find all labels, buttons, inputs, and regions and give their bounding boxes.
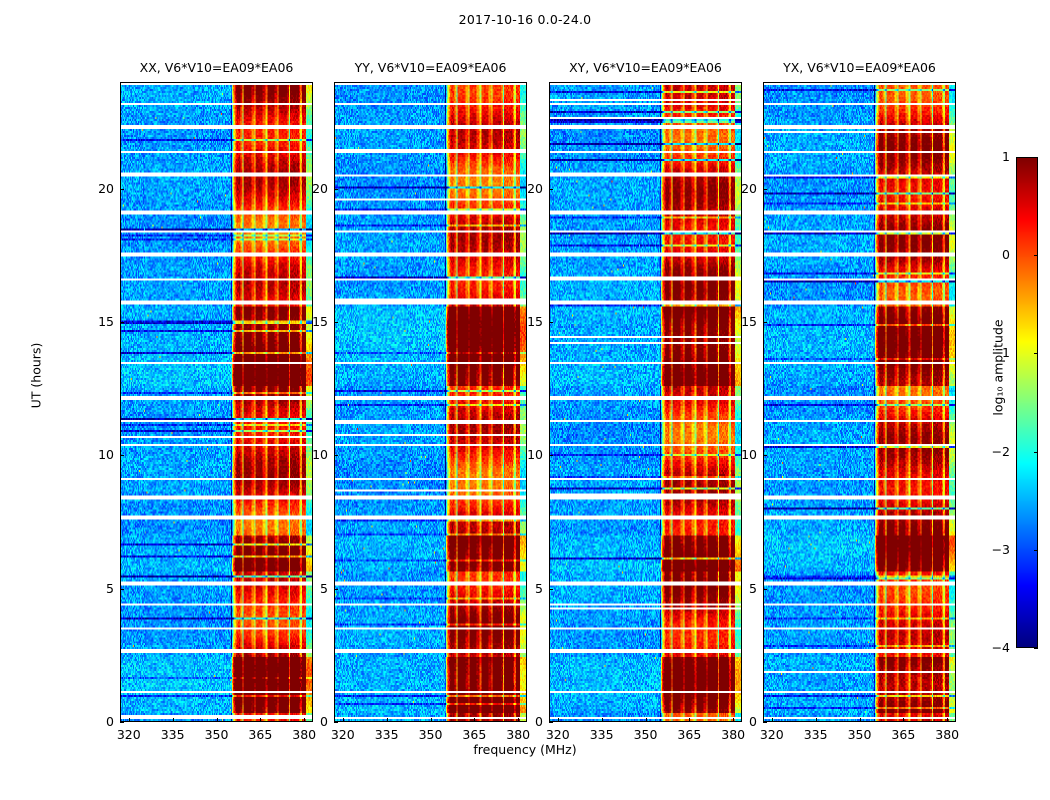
x-tick-1-3 [474, 718, 475, 722]
y-tick-1-3 [334, 322, 338, 323]
x-tick-0-3 [260, 718, 261, 722]
x-tick-label-1-4: 380 [498, 727, 538, 742]
y-tick-label-1-3: 15 [294, 314, 328, 329]
x-tick-3-1 [816, 718, 817, 722]
y-tick-3-4 [763, 189, 767, 190]
panel-title-yx: YX, V6*V10=EA09*EA06 [763, 60, 956, 75]
y-tick-label-3-1: 5 [723, 581, 757, 596]
y-tick-label-0-2: 10 [80, 447, 114, 462]
y-tick-2-4 [549, 189, 553, 190]
x-tick-3-3 [903, 718, 904, 722]
y-tick-3-1 [763, 589, 767, 590]
colorbar-tick-0 [1034, 157, 1038, 158]
colorbar-tick-2 [1034, 353, 1038, 354]
y-tick-3-2 [763, 455, 767, 456]
panel-title-xy: XY, V6*V10=EA09*EA06 [549, 60, 742, 75]
y-tick-3-0 [763, 722, 767, 723]
x-tick-1-1 [387, 718, 388, 722]
y-tick-0-2 [120, 455, 124, 456]
x-tick-label-2-4: 380 [713, 727, 753, 742]
colorbar-tick-label-3: −2 [978, 444, 1010, 459]
spectrum-panel-xx[interactable] [120, 82, 313, 722]
y-tick-0-1 [120, 589, 124, 590]
x-tick-label-2-1: 335 [582, 727, 622, 742]
x-tick-label-3-4: 380 [927, 727, 967, 742]
x-tick-1-0 [343, 718, 344, 722]
x-tick-label-0-0: 320 [109, 727, 149, 742]
y-tick-label-2-1: 5 [509, 581, 543, 596]
y-tick-label-2-4: 20 [509, 181, 543, 196]
x-tick-label-0-4: 380 [284, 727, 324, 742]
colorbar-tick-4 [1034, 550, 1038, 551]
y-tick-2-1 [549, 589, 553, 590]
x-tick-label-3-1: 335 [796, 727, 836, 742]
colorbar [1016, 157, 1038, 648]
y-tick-3-3 [763, 322, 767, 323]
y-tick-0-0 [120, 722, 124, 723]
spectrum-panel-yx[interactable] [763, 82, 956, 722]
y-tick-label-0-1: 5 [80, 581, 114, 596]
y-tick-1-2 [334, 455, 338, 456]
y-tick-2-3 [549, 322, 553, 323]
x-tick-0-2 [217, 718, 218, 722]
y-tick-label-0-0: 0 [80, 714, 114, 729]
colorbar-tick-5 [1034, 648, 1038, 649]
y-tick-0-4 [120, 189, 124, 190]
panel-title-xx: XX, V6*V10=EA09*EA06 [120, 60, 313, 75]
x-tick-label-1-2: 350 [411, 727, 451, 742]
y-tick-label-1-0: 0 [294, 714, 328, 729]
x-tick-1-2 [431, 718, 432, 722]
x-tick-label-3-0: 320 [752, 727, 792, 742]
spectrum-panel-yy[interactable] [334, 82, 527, 722]
y-tick-1-4 [334, 189, 338, 190]
y-tick-2-2 [549, 455, 553, 456]
y-tick-2-0 [549, 722, 553, 723]
x-tick-label-2-2: 350 [626, 727, 666, 742]
x-tick-label-0-3: 365 [240, 727, 280, 742]
y-tick-label-2-2: 10 [509, 447, 543, 462]
x-tick-label-3-2: 350 [840, 727, 880, 742]
spectrum-panel-xy[interactable] [549, 82, 742, 722]
y-tick-1-1 [334, 589, 338, 590]
figure-suptitle: 2017-10-16 0.0-24.0 [0, 12, 1050, 27]
y-tick-label-2-3: 15 [509, 314, 543, 329]
y-tick-label-3-0: 0 [723, 714, 757, 729]
x-tick-0-0 [129, 718, 130, 722]
x-axis-label: frequency (MHz) [0, 742, 1050, 757]
y-tick-label-0-4: 20 [80, 181, 114, 196]
y-tick-label-0-3: 15 [80, 314, 114, 329]
y-tick-label-3-3: 15 [723, 314, 757, 329]
colorbar-tick-1 [1034, 255, 1038, 256]
y-tick-label-1-1: 5 [294, 581, 328, 596]
colorbar-tick-label-0: 1 [978, 149, 1010, 164]
x-tick-2-2 [646, 718, 647, 722]
x-tick-label-0-2: 350 [197, 727, 237, 742]
y-tick-label-1-4: 20 [294, 181, 328, 196]
colorbar-tick-label-2: −1 [978, 345, 1010, 360]
colorbar-tick-label-5: −4 [978, 640, 1010, 655]
y-tick-0-3 [120, 322, 124, 323]
x-tick-2-0 [558, 718, 559, 722]
y-tick-label-1-2: 10 [294, 447, 328, 462]
colorbar-title: log₁₀ amplitude [991, 288, 1006, 448]
colorbar-tick-label-1: 0 [978, 247, 1010, 262]
x-tick-label-0-1: 335 [153, 727, 193, 742]
colorbar-tick-3 [1034, 452, 1038, 453]
x-tick-2-1 [602, 718, 603, 722]
x-tick-3-2 [860, 718, 861, 722]
x-tick-label-1-1: 335 [367, 727, 407, 742]
x-tick-label-1-0: 320 [323, 727, 363, 742]
y-tick-label-2-0: 0 [509, 714, 543, 729]
y-axis-label: UT (hours) [29, 296, 44, 456]
panel-title-yy: YY, V6*V10=EA09*EA06 [334, 60, 527, 75]
x-tick-label-2-0: 320 [538, 727, 578, 742]
x-tick-3-0 [772, 718, 773, 722]
colorbar-tick-label-4: −3 [978, 542, 1010, 557]
y-tick-label-3-2: 10 [723, 447, 757, 462]
x-tick-label-1-3: 365 [454, 727, 494, 742]
x-tick-3-4 [947, 718, 948, 722]
x-tick-label-2-3: 365 [669, 727, 709, 742]
x-tick-0-1 [173, 718, 174, 722]
x-tick-2-3 [689, 718, 690, 722]
x-tick-label-3-3: 365 [883, 727, 923, 742]
y-tick-1-0 [334, 722, 338, 723]
y-tick-label-3-4: 20 [723, 181, 757, 196]
